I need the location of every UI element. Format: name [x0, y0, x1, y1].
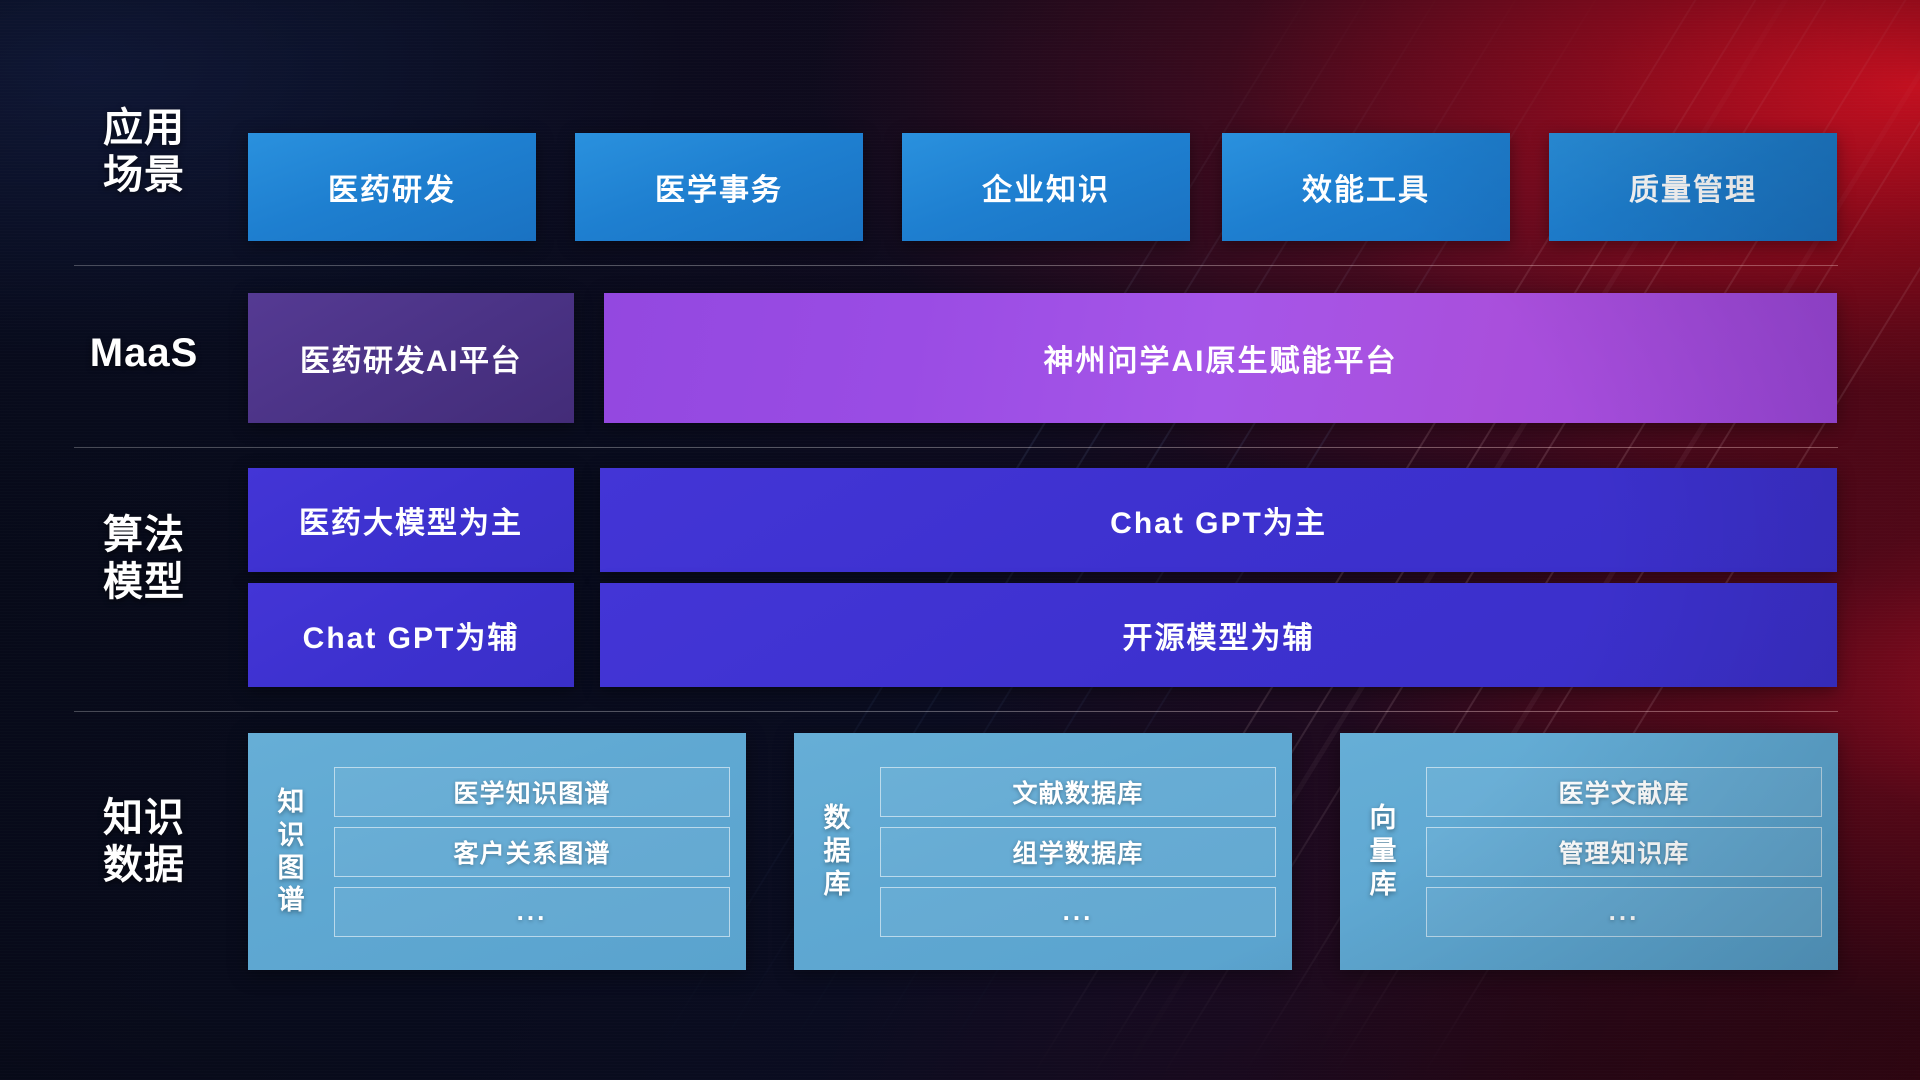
knowledge-card-graph-label-char-1: 知	[278, 786, 305, 819]
algorithm-row1-right-box[interactable]: Chat GPT为主	[600, 468, 1837, 572]
knowledge-card-database[interactable]: 数 据 库 文献数据库 组学数据库 ...	[794, 733, 1292, 970]
app-scenario-box-3[interactable]: 企业知识	[902, 133, 1190, 241]
row-label-knowledge-line2: 数据	[74, 842, 214, 889]
knowledge-card-database-label-char-2: 据	[824, 835, 851, 868]
knowledge-item[interactable]: 医学知识图谱	[334, 767, 730, 817]
knowledge-card-graph-label-char-3: 图	[278, 852, 305, 885]
row-label-maas: MaaS	[74, 330, 214, 377]
row-label-algorithm-line1: 算法	[74, 512, 214, 559]
slide-canvas: 应用 场景 医药研发 医学事务 企业知识 效能工具 质量管理 MaaS 医药研发…	[0, 0, 1920, 1080]
app-scenario-box-1-label: 医药研发	[328, 165, 456, 209]
knowledge-card-vector[interactable]: 向 量 库 医学文献库 管理知识库 ...	[1340, 733, 1838, 970]
knowledge-item[interactable]: ...	[880, 887, 1276, 937]
algorithm-row1-left-box[interactable]: 医药大模型为主	[248, 468, 574, 572]
row-label-application: 应用 场景	[74, 105, 214, 199]
knowledge-card-vector-items: 医学文献库 管理知识库 ...	[1426, 747, 1822, 956]
app-scenario-box-4-label: 效能工具	[1302, 165, 1430, 209]
algorithm-row1-right-label: Chat GPT为主	[1110, 498, 1327, 542]
knowledge-card-database-items: 文献数据库 组学数据库 ...	[880, 747, 1276, 956]
app-scenario-box-2-label: 医学事务	[655, 165, 783, 209]
divider-application-maas	[74, 265, 1838, 266]
maas-left-box[interactable]: 医药研发AI平台	[248, 293, 574, 423]
knowledge-card-graph-label: 知 识 图 谱	[248, 747, 334, 956]
divider-algorithm-knowledge	[74, 711, 1838, 712]
knowledge-card-graph[interactable]: 知 识 图 谱 医学知识图谱 客户关系图谱 ...	[248, 733, 746, 970]
knowledge-item[interactable]: 文献数据库	[880, 767, 1276, 817]
row-label-algorithm-line2: 模型	[74, 559, 214, 606]
app-scenario-box-3-label: 企业知识	[982, 165, 1110, 209]
app-scenario-box-5-label: 质量管理	[1629, 165, 1757, 209]
knowledge-item[interactable]: 客户关系图谱	[334, 827, 730, 877]
knowledge-card-graph-label-char-2: 识	[278, 819, 305, 852]
row-label-maas-line1: MaaS	[74, 330, 214, 377]
knowledge-card-vector-label-char-2: 量	[1370, 835, 1397, 868]
maas-left-box-label: 医药研发AI平台	[300, 336, 522, 380]
row-label-knowledge-line1: 知识	[74, 795, 214, 842]
knowledge-card-graph-items: 医学知识图谱 客户关系图谱 ...	[334, 747, 730, 956]
app-scenario-box-4[interactable]: 效能工具	[1222, 133, 1510, 241]
knowledge-item[interactable]: 管理知识库	[1426, 827, 1822, 877]
maas-right-box-label: 神州问学AI原生赋能平台	[1044, 336, 1398, 380]
knowledge-card-database-label-char-3: 库	[824, 868, 851, 901]
algorithm-row2-left-box[interactable]: Chat GPT为辅	[248, 583, 574, 687]
knowledge-item[interactable]: ...	[334, 887, 730, 937]
knowledge-item[interactable]: ...	[1426, 887, 1822, 937]
algorithm-row2-right-box[interactable]: 开源模型为辅	[600, 583, 1837, 687]
app-scenario-box-1[interactable]: 医药研发	[248, 133, 536, 241]
knowledge-card-vector-label: 向 量 库	[1340, 747, 1426, 956]
algorithm-row2-left-label: Chat GPT为辅	[303, 613, 520, 657]
knowledge-card-database-label-char-1: 数	[824, 802, 851, 835]
knowledge-card-vector-label-char-1: 向	[1370, 802, 1397, 835]
row-label-application-line1: 应用	[74, 105, 214, 152]
algorithm-row1-left-label: 医药大模型为主	[299, 498, 523, 542]
knowledge-card-database-label: 数 据 库	[794, 747, 880, 956]
app-scenario-box-5[interactable]: 质量管理	[1549, 133, 1837, 241]
row-label-algorithm: 算法 模型	[74, 512, 214, 606]
app-scenario-box-2[interactable]: 医学事务	[575, 133, 863, 241]
maas-right-box[interactable]: 神州问学AI原生赋能平台	[604, 293, 1837, 423]
knowledge-item[interactable]: 医学文献库	[1426, 767, 1822, 817]
algorithm-row2-right-label: 开源模型为辅	[1123, 613, 1315, 657]
divider-maas-algorithm	[74, 447, 1838, 448]
knowledge-card-vector-label-char-3: 库	[1370, 868, 1397, 901]
row-label-application-line2: 场景	[74, 152, 214, 199]
knowledge-item[interactable]: 组学数据库	[880, 827, 1276, 877]
knowledge-card-graph-label-char-4: 谱	[278, 884, 305, 917]
row-label-knowledge: 知识 数据	[74, 795, 214, 889]
